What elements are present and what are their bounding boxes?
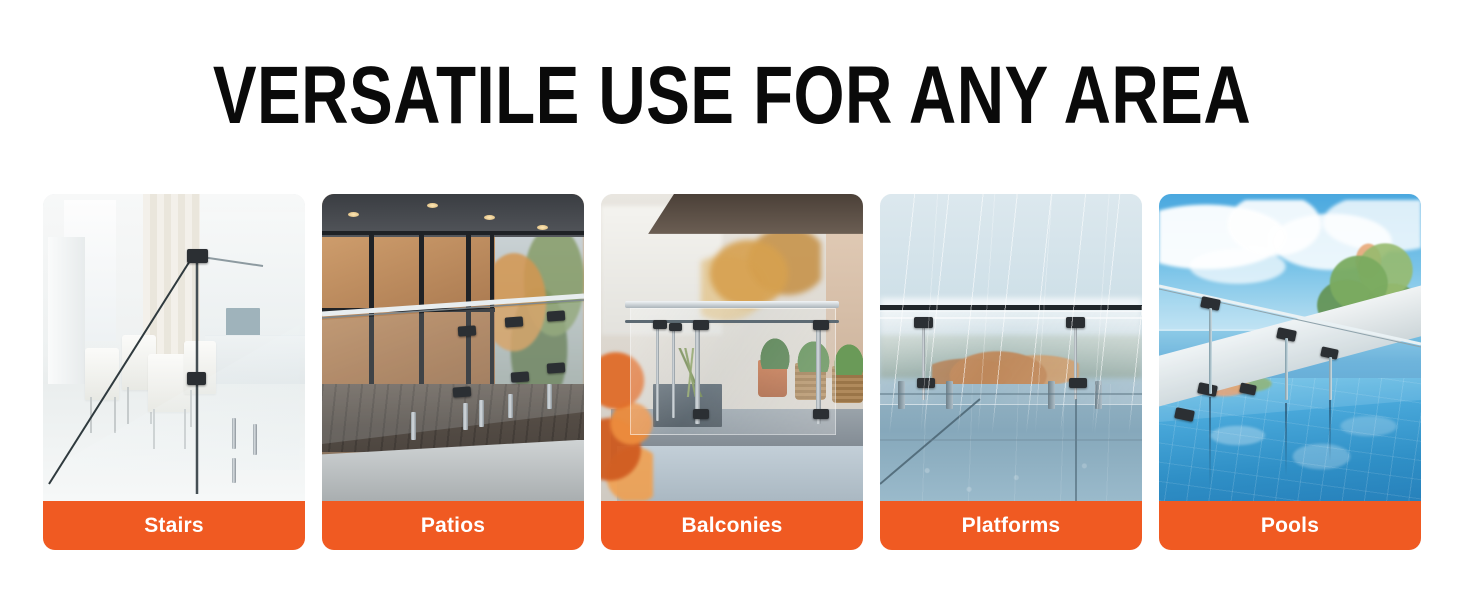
patios-photo xyxy=(322,194,584,501)
use-case-card-platforms[interactable]: Platforms xyxy=(880,194,1142,550)
card-label-patios: Patios xyxy=(322,501,584,550)
pot-plant-leaves xyxy=(832,341,863,375)
glass-post xyxy=(1285,338,1288,399)
pools-photo xyxy=(1159,194,1421,501)
glass-post xyxy=(672,326,675,418)
spigot-post xyxy=(463,403,468,431)
post-reflection xyxy=(1329,400,1331,461)
pool-glass-fence xyxy=(1159,194,1421,501)
post-reflection xyxy=(1285,403,1287,477)
glass-clamp xyxy=(653,320,667,329)
glass-clamp xyxy=(547,310,566,321)
use-case-card-balconies[interactable]: Balconies xyxy=(601,194,863,550)
use-case-card-patios[interactable]: Patios xyxy=(322,194,584,550)
card-label-balconies: Balconies xyxy=(601,501,863,550)
top-handrail xyxy=(625,301,840,308)
glass-clamp xyxy=(458,325,477,336)
glass-clamp xyxy=(693,409,709,419)
glass-clamp xyxy=(187,249,208,263)
card-label-pools: Pools xyxy=(1159,501,1421,550)
spigot-post xyxy=(508,394,513,419)
glass-clamp xyxy=(510,371,529,382)
spigot-post xyxy=(232,458,236,483)
glass-clamp xyxy=(453,387,472,398)
balconies-photo xyxy=(601,194,863,501)
glass-post xyxy=(1209,308,1212,394)
glass-clamp xyxy=(813,409,829,419)
balcony-base-slab xyxy=(617,446,863,501)
balcony-ceiling xyxy=(648,194,863,234)
spigot-post xyxy=(547,384,552,409)
post-reflection xyxy=(1209,397,1211,489)
glass-post xyxy=(656,323,659,421)
glass-clamp xyxy=(693,320,709,330)
glass-post xyxy=(1329,357,1332,400)
use-case-card-row: Stairs xyxy=(43,194,1421,550)
spigot-post xyxy=(232,418,236,449)
card-label-platforms: Platforms xyxy=(880,501,1142,550)
spigot-post xyxy=(253,424,257,455)
versatile-use-banner: VERSATILE USE FOR ANY AREA xyxy=(0,0,1464,600)
spigot-post xyxy=(411,412,416,440)
glass-clamp xyxy=(813,320,829,330)
spigot-post xyxy=(479,400,484,428)
stairs-photo xyxy=(43,194,305,501)
handrail-diagonal-line xyxy=(43,194,305,501)
platforms-photo xyxy=(880,194,1142,501)
use-case-card-stairs[interactable]: Stairs xyxy=(43,194,305,550)
use-case-card-pools[interactable]: Pools xyxy=(1159,194,1421,550)
patio-glass-railing xyxy=(322,194,584,501)
glass-clamp xyxy=(547,362,566,373)
page-title: VERSATILE USE FOR ANY AREA xyxy=(146,52,1317,140)
glass-clamp xyxy=(669,323,682,331)
glass-clamp xyxy=(187,372,206,385)
card-label-stairs: Stairs xyxy=(43,501,305,550)
rain-streaks xyxy=(880,194,1142,501)
glass-clamp xyxy=(505,316,524,327)
